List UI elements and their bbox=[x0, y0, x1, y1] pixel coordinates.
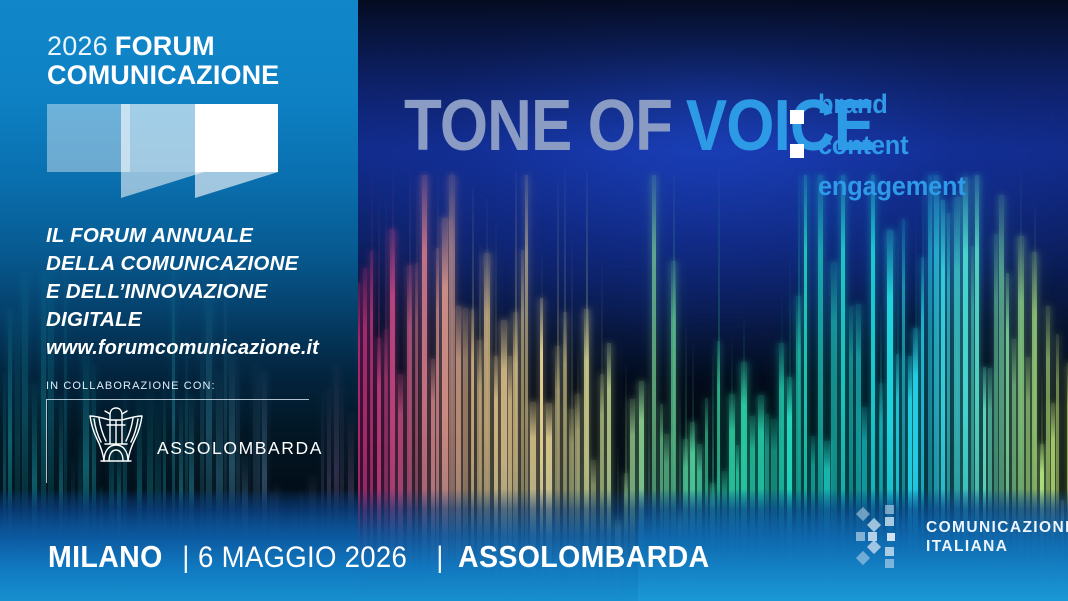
tagline-line-2: DELLA COMUNICAZIONE bbox=[46, 250, 346, 278]
speech-bubble-2 bbox=[121, 104, 204, 172]
keyword-engagement: engagement bbox=[818, 166, 966, 207]
footer-venue: ASSOLOMBARDA bbox=[458, 539, 710, 575]
bubble-body bbox=[195, 104, 278, 172]
footer-separator-2: | bbox=[436, 541, 443, 575]
website-url[interactable]: www.forumcomunicazione.it bbox=[46, 335, 346, 362]
logo-square bbox=[885, 517, 894, 526]
bubble-tail bbox=[195, 172, 278, 198]
partner-name: ASSOLOMBARDA bbox=[157, 438, 323, 459]
footer-city: MILANO bbox=[48, 539, 163, 575]
assolombarda-eagle-icon bbox=[81, 403, 151, 469]
footer-date: 6 MAGGIO 2026 bbox=[198, 541, 407, 575]
tagline-line-4: DIGITALE bbox=[46, 306, 346, 334]
keyword-brand: brand bbox=[818, 84, 966, 125]
speech-bubble-3 bbox=[195, 104, 278, 172]
logo-square bbox=[887, 533, 895, 541]
logo-square bbox=[856, 551, 870, 565]
brand-lockup: 2026FORUM COMUNICAZIONE bbox=[47, 33, 279, 90]
speech-bubble-1 bbox=[47, 104, 130, 172]
brand-forum-word: FORUM bbox=[115, 31, 215, 61]
bubble-tail bbox=[121, 172, 204, 198]
publisher-line-2: ITALIANA bbox=[926, 537, 1068, 556]
keyword-content: content bbox=[818, 125, 966, 166]
brand-line-one: 2026FORUM bbox=[47, 33, 279, 60]
logo-square bbox=[867, 540, 881, 554]
publisher-name: COMUNICAZIONE ITALIANA bbox=[926, 518, 1068, 556]
bubble-body bbox=[47, 104, 130, 172]
tagline-line-3: E DELL’INNOVAZIONE bbox=[46, 278, 346, 306]
logo-square bbox=[856, 532, 865, 541]
tagline-block: IL FORUM ANNUALE DELLA COMUNICAZIONE E D… bbox=[46, 222, 346, 362]
footer-details: MILANO | 6 MAGGIO 2026 | ASSOLOMBARDA bbox=[48, 539, 731, 575]
brand-comunicazione-word: COMUNICAZIONE bbox=[47, 61, 279, 90]
logo-square bbox=[885, 559, 894, 568]
logo-square bbox=[885, 547, 894, 556]
poster-canvas: 2026FORUM COMUNICAZIONE IL FORUM ANNUALE… bbox=[0, 0, 1068, 601]
collaboration-label: IN COLLABORAZIONE CON: bbox=[46, 380, 346, 392]
speech-bubbles-icon bbox=[47, 104, 279, 200]
bubble-body bbox=[121, 104, 204, 172]
logo-square bbox=[856, 507, 870, 521]
collaboration-frame: ASSOLOMBARDA bbox=[46, 399, 309, 483]
keyword-list: brand content engagement bbox=[818, 84, 975, 207]
logo-square bbox=[868, 532, 877, 541]
headline-part-one: TONE OF bbox=[404, 86, 672, 166]
brand-year: 2026 bbox=[47, 31, 108, 61]
collaboration-block: IN COLLABORAZIONE CON: bbox=[46, 380, 346, 483]
logo-square bbox=[867, 518, 881, 532]
footer-separator-1: | bbox=[182, 541, 189, 575]
publisher-logo: COMUNICAZIONE ITALIANA bbox=[855, 503, 1068, 571]
logo-square bbox=[885, 505, 894, 514]
publisher-line-1: COMUNICAZIONE bbox=[926, 518, 1068, 537]
tagline-line-1: IL FORUM ANNUALE bbox=[46, 222, 346, 250]
colon-icon bbox=[790, 110, 804, 158]
comunicazione-italiana-asterisk-icon bbox=[855, 503, 909, 571]
